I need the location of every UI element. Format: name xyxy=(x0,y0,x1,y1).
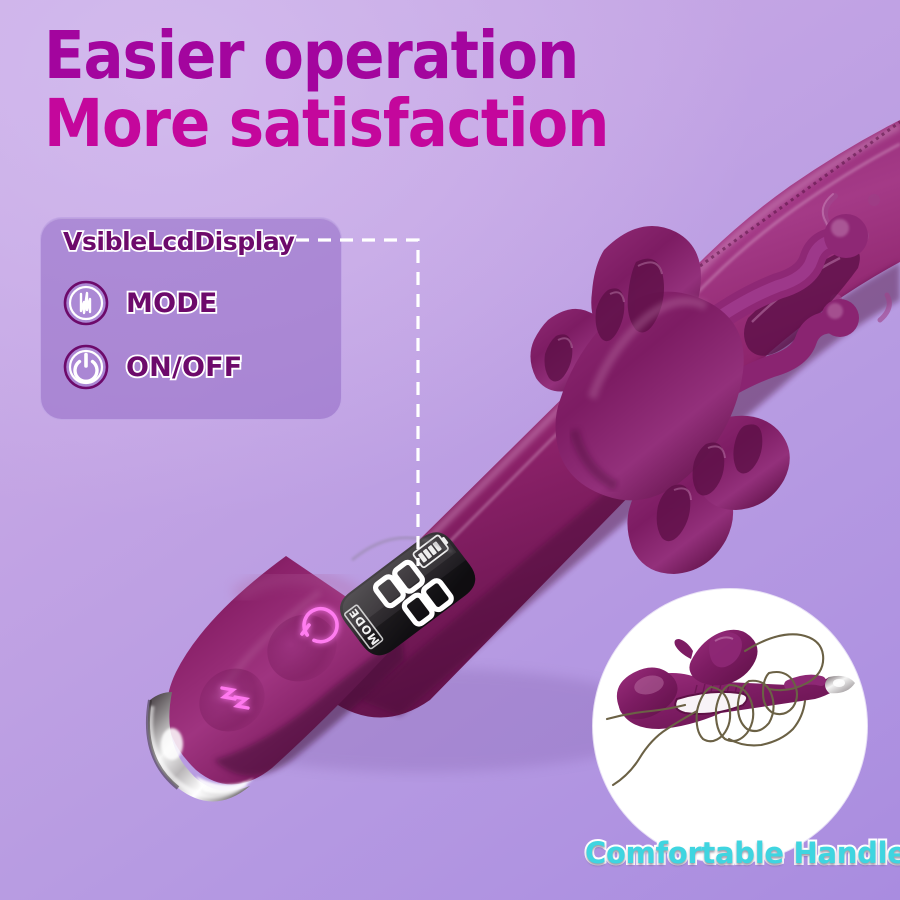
product-marketing-banner: MODE xyxy=(0,0,900,900)
headline: Easier operation More satisfaction xyxy=(44,22,671,158)
card-label-mode: MODE xyxy=(126,288,217,319)
card-row-mode: MODE xyxy=(63,280,217,326)
mode-wave-icon xyxy=(63,280,109,326)
headline-line-2: More satisfaction xyxy=(44,90,608,158)
card-row-onoff: ON/OFF xyxy=(63,344,242,390)
card-label-onoff: ON/OFF xyxy=(126,352,242,383)
visible-lcd-display-card: VsibleLcdDisplay MODE ON/OFF xyxy=(40,217,342,420)
inset-caption: Comfortable Handle xyxy=(585,836,885,870)
card-title: VsibleLcdDisplay xyxy=(63,227,295,256)
headline-line-1: Easier operation xyxy=(44,22,608,90)
power-icon xyxy=(63,344,109,390)
comfortable-handle-inset xyxy=(593,589,867,863)
